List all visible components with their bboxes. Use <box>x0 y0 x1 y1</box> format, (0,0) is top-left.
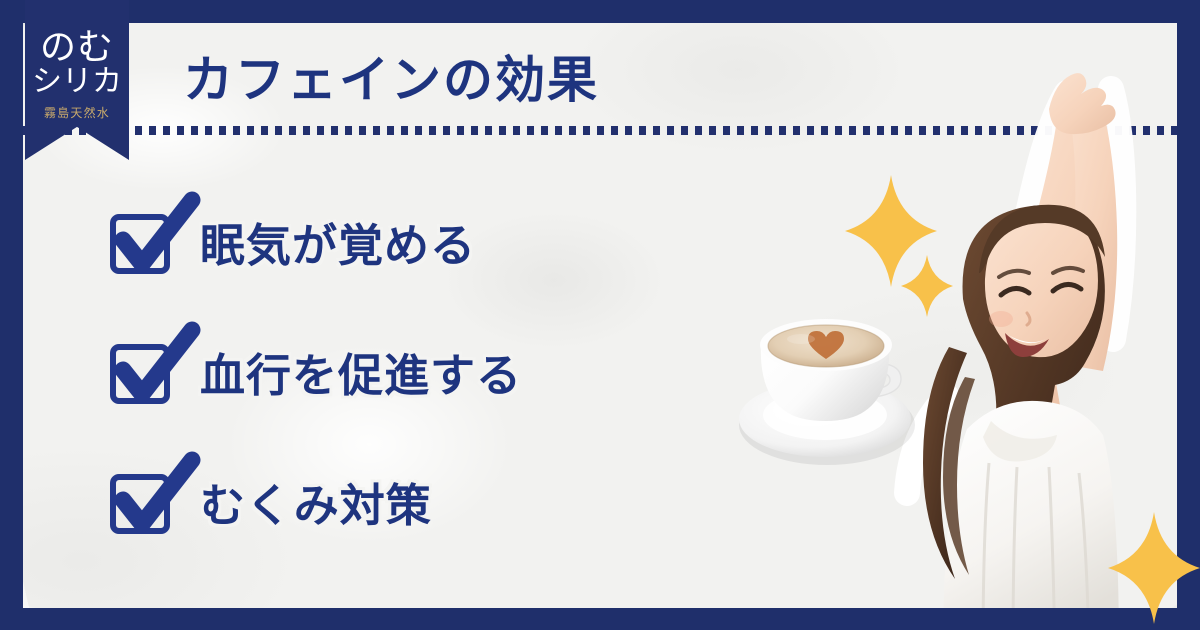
sparkle-small-upper-icon <box>901 255 953 322</box>
logo-text-silica: シリカ <box>32 67 122 97</box>
page-title: カフェインの効果 <box>183 40 599 112</box>
checkbox-checked-icon <box>108 206 178 276</box>
banner-canvas: のむ シリカ 霧島天然水 カフェインの効果 眠気が覚める 血行を促進する <box>0 0 1200 630</box>
list-item-label: 血行を促進する <box>200 339 522 404</box>
checkbox-checked-icon <box>108 466 178 536</box>
list-item-label: むくみ対策 <box>200 469 432 534</box>
logo-subtitle-kirishima: 霧島天然水 <box>44 104 110 121</box>
list-item-label: 眠気が覚める <box>200 209 476 274</box>
sparkle-large-lower-icon <box>1108 512 1200 629</box>
list-item: 眠気が覚める <box>108 196 522 286</box>
list-item: むくみ対策 <box>108 456 522 546</box>
list-item: 血行を促進する <box>108 326 522 416</box>
logo-text-nomu: のむ <box>40 30 114 65</box>
coffee-cup-image <box>723 301 943 481</box>
benefits-checklist: 眠気が覚める 血行を促進する むくみ対策 <box>108 196 522 546</box>
checkbox-checked-icon <box>108 336 178 406</box>
